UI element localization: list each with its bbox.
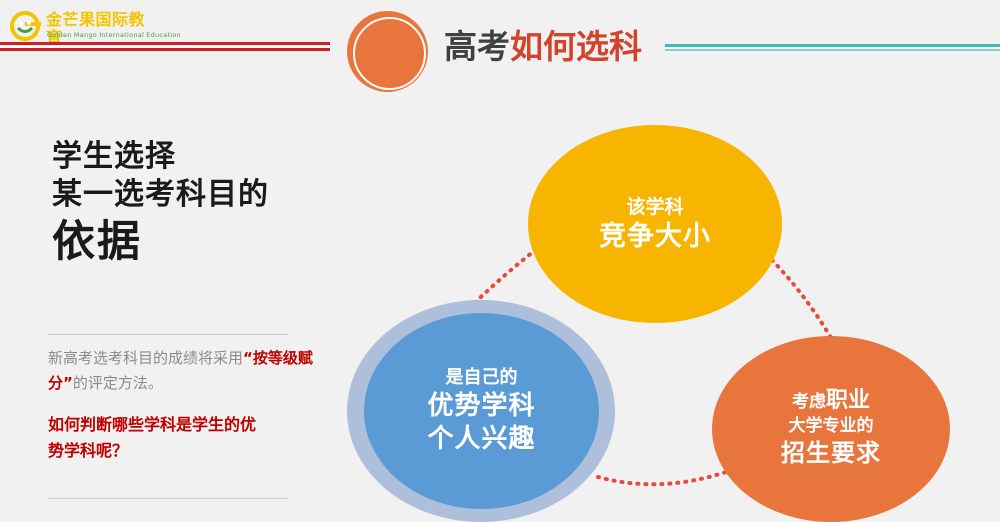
bubble-strength-line2: 优势学科 — [427, 390, 535, 423]
bubble-competition[interactable]: 该学科 竞争大小 — [528, 125, 782, 323]
bubble-admission-line2: 大学专业的 — [789, 414, 874, 438]
bubble-admission-line3: 招生要求 — [781, 438, 881, 469]
venn-diagram: 该学科 竞争大小 是自己的 优势学科 个人兴趣 考虑职业 大学专业的 招生要求 — [0, 0, 1000, 522]
bubble-strength-line1: 是自己的 — [446, 366, 518, 390]
slide-canvas: 金芒果国际教育 Golden Mango International Educa… — [0, 0, 1000, 522]
bubble-admission[interactable]: 考虑职业 大学专业的 招生要求 — [712, 336, 950, 522]
bubble-admission-line1-b: 职业 — [826, 388, 870, 413]
bubble-competition-line1: 该学科 — [626, 195, 683, 220]
bubble-admission-line1: 考虑职业 — [792, 389, 870, 414]
bubble-strength[interactable]: 是自己的 优势学科 个人兴趣 — [364, 313, 599, 509]
connector-yellow-orange — [772, 260, 835, 345]
bubble-admission-line1-a: 考虑 — [792, 392, 826, 412]
bubble-competition-line2: 竞争大小 — [599, 220, 711, 254]
bubble-strength-line3: 个人兴趣 — [427, 423, 535, 456]
